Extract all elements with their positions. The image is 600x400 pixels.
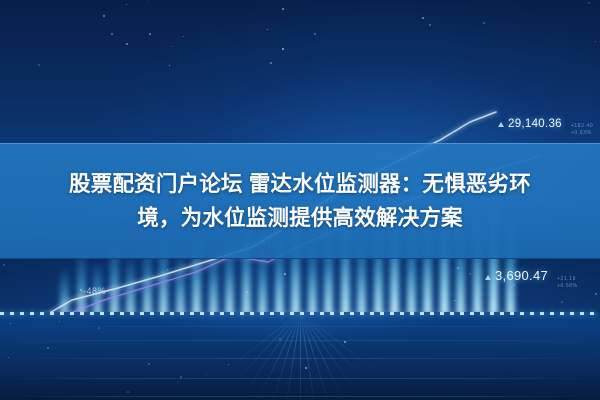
particle (3, 264, 5, 266)
particle (344, 300, 345, 301)
particle (8, 357, 9, 358)
ticker-secondary-sub: +21.19 +0.58% (557, 277, 578, 289)
particle (167, 269, 168, 270)
particle (305, 367, 307, 369)
ticker-primary: 29,140.36 +182.40 +0.63% (498, 118, 593, 136)
headline-line-1: 股票配资门户论坛 雷达水位监测器：无惧恶劣环 (69, 167, 531, 201)
particle (228, 364, 229, 365)
caret-up-icon (498, 122, 504, 127)
ticker-secondary-change: +21.19 (557, 277, 578, 282)
particle (148, 363, 150, 365)
particle (149, 33, 151, 35)
particle (171, 46, 172, 47)
particle (148, 1, 149, 2)
particle (38, 64, 40, 66)
particle (279, 338, 281, 340)
particle (126, 4, 127, 5)
particle (47, 347, 49, 349)
particle (270, 62, 272, 64)
ticker-primary-sub: +182.40 +0.63% (571, 124, 593, 136)
particle (206, 374, 207, 375)
particle (483, 22, 485, 24)
ticker-secondary-value: 3,690.47 (495, 268, 548, 283)
particle (98, 327, 100, 329)
headline-block: 股票配资门户论坛 雷达水位监测器：无惧恶劣环 境，为水位监测提供高效解决方案 (0, 143, 600, 259)
particle (282, 8, 284, 10)
particle (282, 48, 284, 50)
particle (454, 300, 455, 301)
particle (595, 293, 597, 295)
particle (183, 36, 184, 37)
headline-line-2: 境，为水位监测提供高效解决方案 (137, 201, 463, 235)
ticker-secondary-percent: +0.58% (557, 284, 578, 289)
particle (59, 321, 60, 322)
particle (127, 391, 129, 393)
particle (80, 289, 82, 291)
particle (344, 341, 346, 343)
particle (246, 291, 248, 293)
ticker-primary-percent: +0.63% (571, 131, 593, 136)
particle (561, 301, 563, 303)
particle (457, 267, 459, 269)
particle (284, 273, 286, 275)
particle (429, 24, 431, 26)
particle (126, 43, 128, 45)
particle (169, 65, 170, 66)
particle (595, 41, 596, 42)
particle (180, 376, 182, 378)
percent-label: -48% (83, 286, 106, 296)
particle (267, 29, 268, 30)
particle (111, 33, 113, 35)
ticker-primary-value: 29,140.36 (508, 118, 562, 130)
particle (588, 2, 590, 4)
promotional-banner: 1,465.67 -48% 29,140.36 +182.40 +0.63% 3… (0, 0, 600, 400)
particle (314, 33, 316, 35)
particle (10, 323, 11, 324)
particle (422, 17, 424, 19)
particle (469, 273, 471, 275)
caret-up-icon (485, 275, 491, 280)
ticker-primary-change: +182.40 (571, 124, 593, 129)
particle (103, 15, 105, 17)
ticker-secondary: 3,690.47 +21.19 +0.58% (485, 268, 578, 289)
